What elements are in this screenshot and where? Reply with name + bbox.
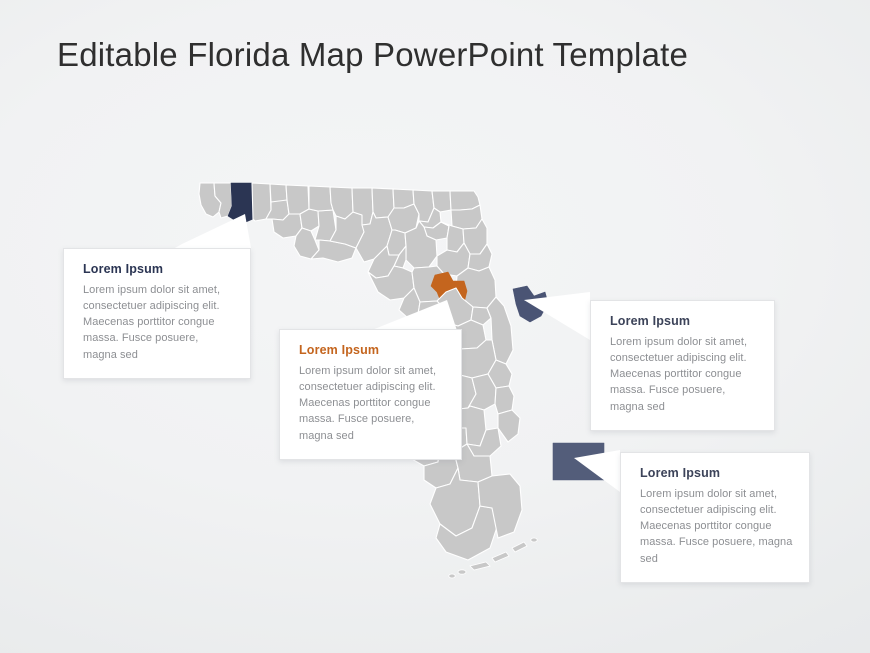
callout-body-1: Lorem ipsum dolor sit amet, consectetuer…: [83, 282, 234, 363]
county-okaloosa-highlight: [228, 183, 253, 222]
callout-title-4: Lorem Ipsum: [640, 466, 793, 481]
callout-title-1: Lorem Ipsum: [83, 262, 234, 277]
key-3: [512, 542, 527, 552]
callout-body-4: Lorem ipsum dolor sit amet, consectetuer…: [640, 486, 793, 567]
callout-card-2[interactable]: Lorem Ipsum Lorem ipsum dolor sit amet, …: [279, 329, 462, 460]
map-highlight-group[interactable]: [553, 443, 604, 480]
callout-card-4[interactable]: Lorem Ipsum Lorem ipsum dolor sit amet, …: [620, 452, 810, 583]
slide-canvas: Editable Florida Map PowerPoint Template: [0, 0, 870, 653]
callout-body-2: Lorem ipsum dolor sit amet, consectetuer…: [299, 363, 445, 444]
key-2: [492, 552, 509, 562]
callout-title-2: Lorem Ipsum: [299, 343, 445, 358]
key-dot-1: [458, 570, 466, 574]
callout-body-3: Lorem ipsum dolor sit amet, consectetuer…: [610, 334, 758, 415]
key-dot-2: [449, 574, 455, 578]
county-southeast-highlight: [553, 443, 604, 480]
county-jackson: [286, 185, 309, 214]
key-dot-3: [531, 538, 537, 542]
county-calhoun: [300, 209, 319, 231]
county-martin: [498, 410, 520, 442]
callout-card-1[interactable]: Lorem Ipsum Lorem ipsum dolor sit amet, …: [63, 248, 251, 379]
key-1: [470, 562, 490, 570]
county-eastcentral-highlight: [513, 286, 548, 322]
callout-title-3: Lorem Ipsum: [610, 314, 758, 329]
callout-card-3[interactable]: Lorem Ipsum Lorem ipsum dolor sit amet, …: [590, 300, 775, 431]
county-gadsden: [309, 186, 333, 211]
